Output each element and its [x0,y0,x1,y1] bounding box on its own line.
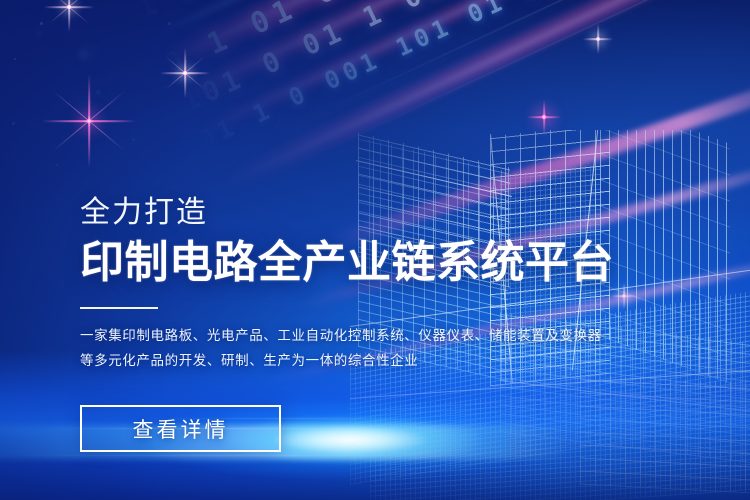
divider-rule [80,307,158,309]
banner-description: 一家集印制电路板、光电产品、工业自动化控制系统、仪器仪表、储能装置及变换器 等多… [80,323,680,373]
dust-mote [96,90,100,94]
dust-mote [14,58,16,60]
dust-mote [40,22,43,25]
banner-eyebrow: 全力打造 [80,196,680,230]
dust-mote [37,31,42,36]
hero-banner: 01 0 1 001 0 1 01 1 001 0 101 1 0 01 001… [0,0,750,500]
banner-copy: 全力打造 印制电路全产业链系统平台 一家集印制电路板、光电产品、工业自动化控制系… [80,196,680,373]
dust-mote [70,96,96,110]
banner-headline: 印制电路全产业链系统平台 [80,239,680,287]
dust-mote [56,164,58,166]
dust-mote [132,138,135,141]
dust-mote [80,44,98,60]
view-details-button[interactable]: 查看详情 [80,405,281,452]
banner-description-line-2: 等多元化产品的开发、研制、生产为一体的综合性企业 [80,348,680,373]
light-streak [10,455,430,456]
banner-description-line-1: 一家集印制电路板、光电产品、工业自动化控制系统、仪器仪表、储能装置及变换器 [80,323,680,348]
dust-mote [12,122,15,125]
